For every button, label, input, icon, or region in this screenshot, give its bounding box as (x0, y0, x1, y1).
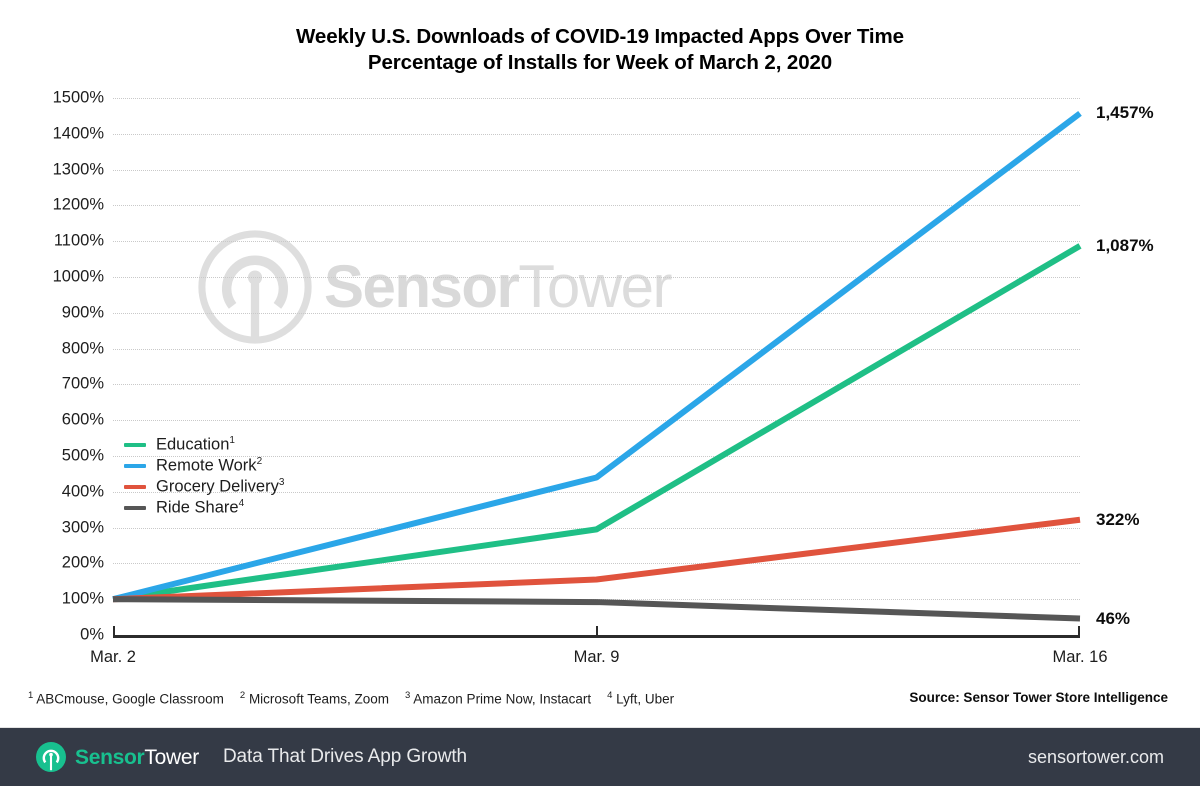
legend-swatch-icon (124, 443, 146, 447)
legend-footnote-marker: 4 (239, 498, 245, 509)
legend-swatch-icon (124, 485, 146, 489)
footnote-text: Lyft, Uber (612, 692, 674, 707)
y-axis-tick-label: 600% (14, 411, 104, 430)
y-axis-tick-label: 300% (14, 518, 104, 537)
footnote-2: 2 Microsoft Teams, Zoom (240, 690, 389, 707)
y-axis-tick-label: 0% (14, 626, 104, 645)
end-label-grocery-delivery: 322% (1096, 510, 1139, 530)
y-axis-tick-label: 200% (14, 554, 104, 573)
chart-title-line1: Weekly U.S. Downloads of COVID-19 Impact… (296, 25, 904, 48)
footer-wordmark: SensorTower (75, 747, 199, 768)
footer-brand-sensor: Sensor (75, 746, 144, 769)
x-axis-tick (1078, 626, 1080, 635)
x-axis (113, 635, 1080, 638)
footer-brand[interactable]: SensorTower (36, 742, 199, 772)
chart-title-line2: Percentage of Installs for Week of March… (0, 50, 1200, 76)
sensor-tower-logo-icon (36, 742, 66, 772)
legend-item-label: Remote Work2 (156, 456, 262, 476)
legend-item-grocery-delivery[interactable]: Grocery Delivery3 (124, 476, 284, 497)
y-axis-tick-label: 1000% (14, 268, 104, 287)
y-axis-tick-label: 400% (14, 482, 104, 501)
series-line-ride-share (113, 599, 1080, 618)
y-axis-tick-label: 1100% (14, 232, 104, 251)
legend-footnote-marker: 1 (229, 435, 235, 446)
legend-item-remote-work[interactable]: Remote Work2 (124, 455, 284, 476)
footer-brand-tower: Tower (144, 746, 199, 769)
y-axis-tick-label: 800% (14, 339, 104, 358)
y-axis-tick-label: 1200% (14, 196, 104, 215)
series-line-education (113, 246, 1080, 599)
footnote-text: ABCmouse, Google Classroom (33, 692, 224, 707)
legend: Education1Remote Work2Grocery Delivery3R… (124, 434, 284, 518)
footnote-3: 3 Amazon Prime Now, Instacart (405, 690, 591, 707)
legend-swatch-icon (124, 464, 146, 468)
y-axis-tick-label: 900% (14, 303, 104, 322)
legend-swatch-icon (124, 506, 146, 510)
legend-item-label: Grocery Delivery3 (156, 477, 284, 497)
footer-tagline: Data That Drives App Growth (223, 746, 467, 768)
y-axis-tick-label: 700% (14, 375, 104, 394)
y-axis-tick-label: 100% (14, 590, 104, 609)
page-title: Weekly U.S. Downloads of COVID-19 Impact… (0, 24, 1200, 76)
series-lines (113, 98, 1080, 635)
x-axis-tick (596, 626, 598, 635)
footnote-text: Amazon Prime Now, Instacart (410, 692, 591, 707)
legend-item-label: Education1 (156, 435, 235, 455)
legend-footnote-marker: 3 (279, 477, 285, 488)
x-axis-tick-label: Mar. 2 (90, 648, 136, 667)
y-axis-tick-label: 1300% (14, 160, 104, 179)
legend-item-label: Ride Share4 (156, 498, 244, 518)
end-label-remote-work: 1,457% (1096, 103, 1154, 123)
x-axis-tick (113, 626, 115, 635)
plot-area (113, 98, 1080, 635)
legend-item-education[interactable]: Education1 (124, 434, 284, 455)
x-axis-tick-label: Mar. 9 (574, 648, 620, 667)
source-note: Source: Sensor Tower Store Intelligence (909, 690, 1168, 705)
footnote-4: 4 Lyft, Uber (607, 690, 674, 707)
x-axis-tick-label: Mar. 16 (1052, 648, 1107, 667)
legend-footnote-marker: 2 (257, 456, 263, 467)
end-label-ride-share: 46% (1096, 609, 1130, 629)
footnotes: 1 ABCmouse, Google Classroom2 Microsoft … (28, 690, 674, 707)
y-axis-tick-label: 1400% (14, 124, 104, 143)
y-axis-tick-label: 500% (14, 447, 104, 466)
footnote-text: Microsoft Teams, Zoom (245, 692, 389, 707)
end-label-education: 1,087% (1096, 236, 1154, 256)
footer-bar: SensorTower Data That Drives App Growth … (0, 728, 1200, 786)
legend-item-ride-share[interactable]: Ride Share4 (124, 497, 284, 518)
footnote-1: 1 ABCmouse, Google Classroom (28, 690, 224, 707)
y-axis-tick-label: 1500% (14, 89, 104, 108)
footer-url[interactable]: sensortower.com (1028, 747, 1164, 768)
